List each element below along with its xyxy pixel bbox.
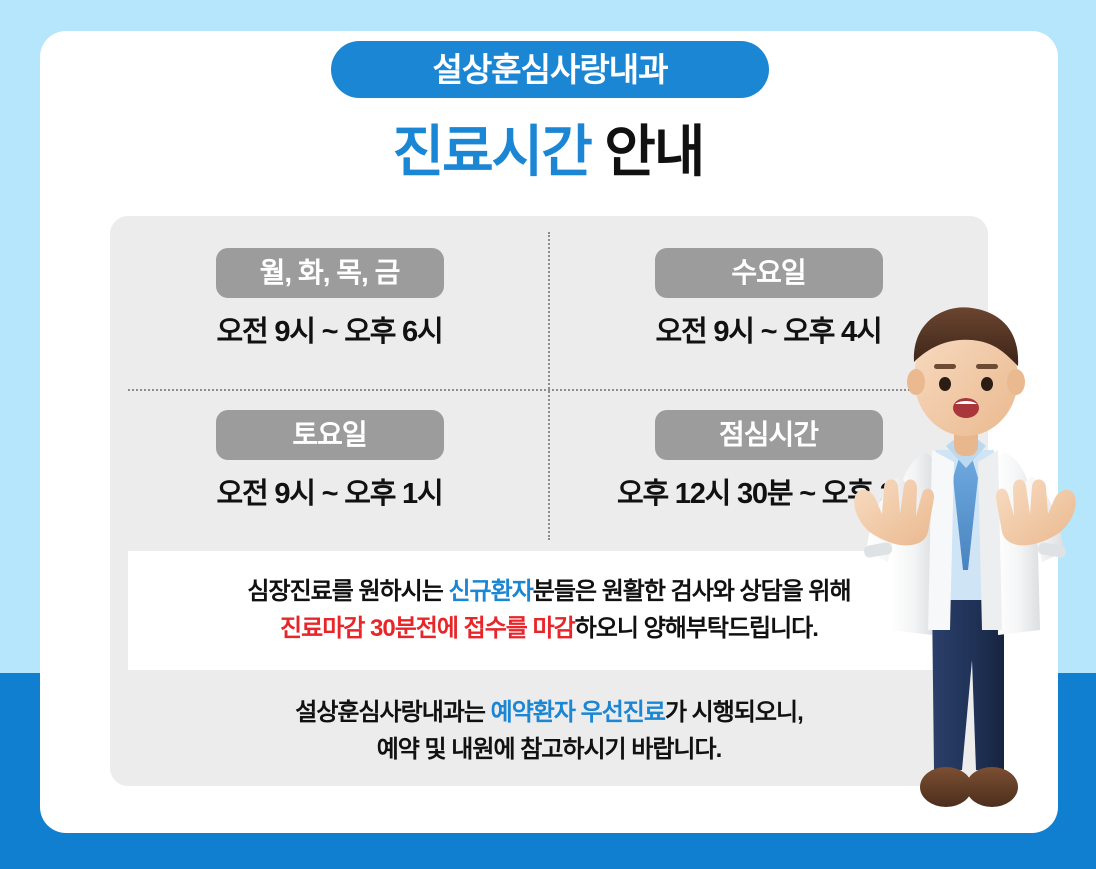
ear-left: [907, 369, 925, 395]
notice-box: 심장진료를 원하시는 신규환자분들은 원활한 검사와 상담을 위해 진료마감 3…: [128, 551, 970, 670]
ear-right: [1007, 369, 1025, 395]
eye-right: [981, 377, 993, 391]
clinic-name-badge: 설상훈심사랑내과: [331, 41, 769, 98]
eye-left: [939, 377, 951, 391]
eyebrow-left: [934, 364, 956, 369]
shoe-left: [920, 767, 972, 807]
page-title-plain: 안내: [604, 120, 703, 183]
time-label: 오전 9시 ~ 오후 1시: [217, 480, 443, 509]
reservation-text-c: 가 시행되오니,: [665, 699, 803, 726]
eyebrow-right: [976, 364, 998, 369]
shoe-right: [966, 767, 1018, 807]
notice-line-1: 심장진료를 원하시는 신규환자분들은 원활한 검사와 상담을 위해: [247, 579, 850, 605]
notice-highlight-new-patient: 신규환자: [448, 578, 532, 605]
reservation-highlight-priority: 예약환자 우선진료: [491, 699, 665, 726]
coat-lapel-right: [978, 450, 1002, 630]
reservation-text-a: 설상훈심사랑내과는: [295, 699, 490, 726]
reservation-line-2: 예약 및 내원에 참고하시기 바랍니다.: [128, 731, 970, 768]
notice-line-2: 진료마감 30분전에 접수를 마감하오니 양해부탁드립니다.: [280, 616, 818, 642]
coat-lapel-left: [928, 450, 954, 630]
page-title: 진료시간 안내: [0, 120, 1096, 184]
page-title-accent: 진료시간: [393, 120, 591, 183]
day-label: 월, 화, 목, 금: [260, 259, 400, 287]
reservation-line-1: 설상훈심사랑내과는 예약환자 우선진료가 시행되오니,: [128, 694, 970, 731]
notice-highlight-cutoff: 진료마감 30분전에 접수를 마감: [280, 615, 575, 642]
grid-divider-horizontal: [128, 389, 970, 391]
time-label: 오전 9시 ~ 오후 6시: [217, 318, 443, 347]
clinic-name-label: 설상훈심사랑내과: [433, 53, 668, 86]
day-badge-saturday: 토요일: [216, 410, 444, 460]
day-label: 수요일: [731, 259, 805, 287]
day-badge-weekdays: 월, 화, 목, 금: [216, 248, 444, 298]
grid-divider-vertical: [548, 232, 550, 540]
day-label: 토요일: [292, 421, 366, 449]
day-label: 점심시간: [719, 421, 818, 449]
reservation-note: 설상훈심사랑내과는 예약환자 우선진료가 시행되오니, 예약 및 내원에 참고하…: [128, 694, 970, 768]
notice-text-c: 분들은 원활한 검사와 상담을 위해: [533, 578, 851, 605]
day-badge-wednesday: 수요일: [655, 248, 883, 298]
schedule-cell-saturday: 토요일 오전 9시 ~ 오후 1시: [110, 378, 549, 540]
time-label: 오전 9시 ~ 오후 4시: [656, 318, 882, 347]
notice-text-tail: 하오니 양해부탁드립니다.: [575, 615, 818, 642]
notice-text-a: 심장진료를 원하시는: [247, 578, 448, 605]
doctor-character-illustration: [854, 300, 1096, 835]
day-badge-lunch: 점심시간: [655, 410, 883, 460]
schedule-cell-weekdays: 월, 화, 목, 금 오전 9시 ~ 오후 6시: [110, 216, 549, 378]
